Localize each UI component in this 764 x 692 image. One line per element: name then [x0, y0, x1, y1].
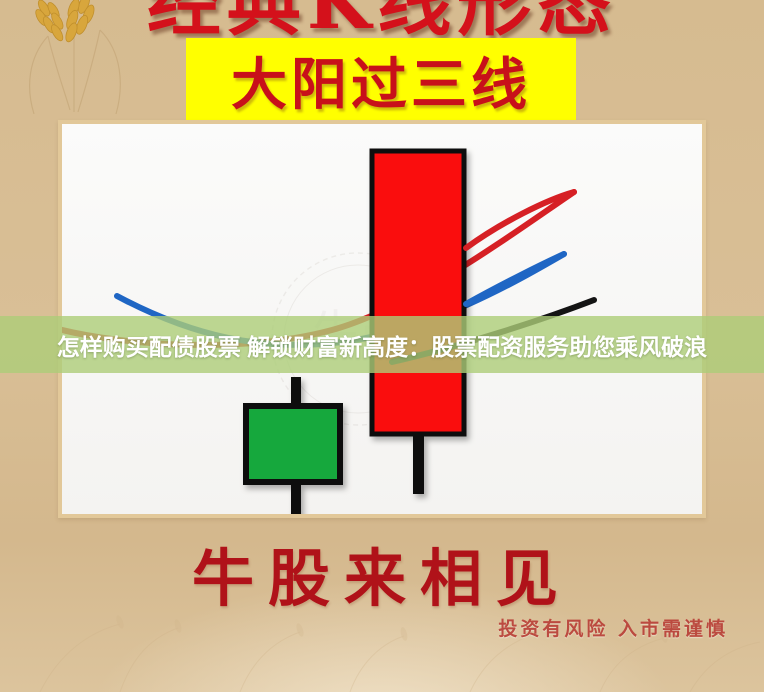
green-candle — [246, 377, 340, 514]
yellow-banner: 大阳过三线 — [186, 38, 576, 122]
caption-overlay-band: 怎样购买配债股票 解锁财富新高度：股票配资服务助您乘风破浪 — [0, 316, 764, 373]
ma-red-line-front — [466, 192, 574, 248]
ma-blue-line-front — [466, 254, 564, 304]
poster-headline-top: 经典K线形态 — [0, 0, 764, 42]
poster-root: 经典K线形态 大阳过三线 牛市 — [0, 0, 764, 692]
caption-headline: 怎样购买配债股票 解锁财富新高度：股票配资服务助您乘风破浪 — [57, 328, 707, 362]
poster-headline-yellow: 大阳过三线 — [231, 40, 531, 121]
risk-disclaimer-text: 投资有风险 入市需谨慎 — [498, 614, 728, 641]
poster-headline-bottom: 牛股来相见 — [0, 528, 764, 618]
